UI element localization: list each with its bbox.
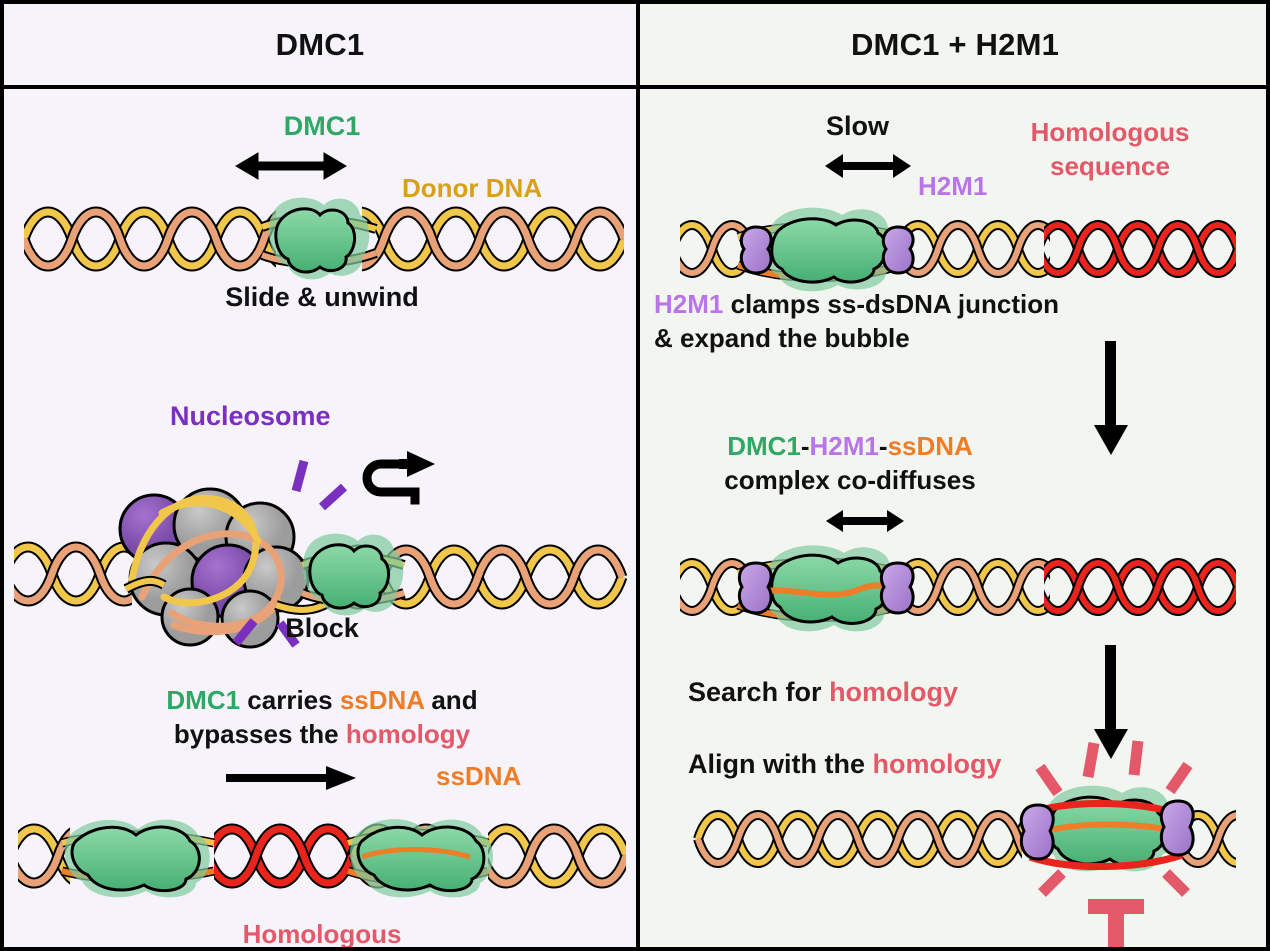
right-step2-sep1: - [801, 431, 810, 461]
left-step3-ssdna-token: ssDNA [340, 685, 424, 715]
panel-dmc1: DMC1 DMC1 Donor DNA [4, 4, 640, 947]
right-step2-complex-line2: complex co-diffuses [680, 465, 1020, 496]
right-step1-clamps-token: clamps ss-dsDNA junction [723, 289, 1059, 319]
panel-right-stage: Slow H2M1 Homologous sequence [640, 89, 1270, 951]
panel-right-title: DMC1 + H2M1 [851, 27, 1059, 63]
figure-root: DMC1 DMC1 Donor DNA [0, 0, 1270, 951]
right-step1-h2m1-token: H2M1 [654, 289, 723, 319]
right-step1-h2m1-label: H2M1 [918, 171, 987, 202]
left-filament [62, 820, 214, 898]
right-step1-dna-complex-scene [680, 199, 1236, 299]
right-step1-caption-line1: H2M1 clamps ss-dsDNA junction [654, 289, 1059, 320]
right-step2-h2m1-token: H2M1 [810, 431, 879, 461]
flash-burst-bottom [1042, 873, 1186, 893]
right-step2-ssdna-token: ssDNA [888, 431, 973, 461]
right-step2-dna-complex-scene [680, 537, 1236, 637]
right-step2-double-arrow-icon [826, 507, 904, 535]
right-step2-sep2: - [879, 431, 888, 461]
left-step3-carries-token: carries [240, 685, 340, 715]
flash-burst-top [1040, 741, 1188, 793]
left-step3-dna-bypass-scene [18, 801, 626, 911]
left-step1-caption: Slide & unwind [4, 282, 640, 314]
left-step2-caption: Block [4, 613, 640, 645]
left-step1-dmc1-label: DMC1 [4, 111, 640, 143]
left-step3-caption-line1: DMC1 carries ssDNA and [4, 685, 640, 716]
left-step3-dmc1-token: DMC1 [166, 685, 240, 715]
panel-left-header: DMC1 [4, 4, 636, 89]
left-step3-homology-token: homology [346, 719, 470, 749]
right-step1-slow-label: Slow [826, 111, 889, 143]
right-step1-homology-label-line1: Homologous [980, 117, 1240, 148]
left-step3-homology-label-line1: Homologous [4, 919, 640, 950]
right-step1-homology-label-line2: sequence [980, 151, 1240, 182]
left-step1-dna-with-dmc1 [24, 185, 624, 293]
right-step2-homology-token: homology [829, 677, 958, 707]
left-step3-and-token: and [424, 685, 477, 715]
flow-down-arrow-1 [1092, 341, 1130, 455]
right-step2-complex-line1: DMC1-H2M1-ssDNA [680, 431, 1020, 462]
right-step2-dmc1-token: DMC1 [727, 431, 801, 461]
right-filament [348, 819, 493, 897]
right-step3-aligned-scene [690, 731, 1236, 951]
right-step2-search-token: Search for [688, 677, 829, 707]
right-step2-caption: Search for homology [688, 677, 958, 709]
panel-left-title: DMC1 [276, 27, 365, 63]
left-step3-ssdna-label: ssDNA [436, 761, 521, 792]
panel-left-stage: DMC1 Donor DNA [4, 89, 636, 951]
panel-right-header: DMC1 + H2M1 [640, 4, 1270, 89]
flash-t-glyph [1088, 899, 1144, 949]
right-step1-caption-line2: & expand the bubble [654, 323, 910, 354]
left-step3-caption-line2: bypasses the homology [4, 719, 640, 750]
left-step1-double-arrow-icon [236, 149, 346, 183]
left-step3-right-arrow-icon [226, 764, 356, 792]
right-step1-double-arrow-icon [825, 151, 911, 181]
left-step3-bypasses-token: bypasses the [174, 719, 346, 749]
panel-dmc1-h2m1: DMC1 + H2M1 Slow H2M1 Homologous sequenc… [640, 4, 1270, 947]
